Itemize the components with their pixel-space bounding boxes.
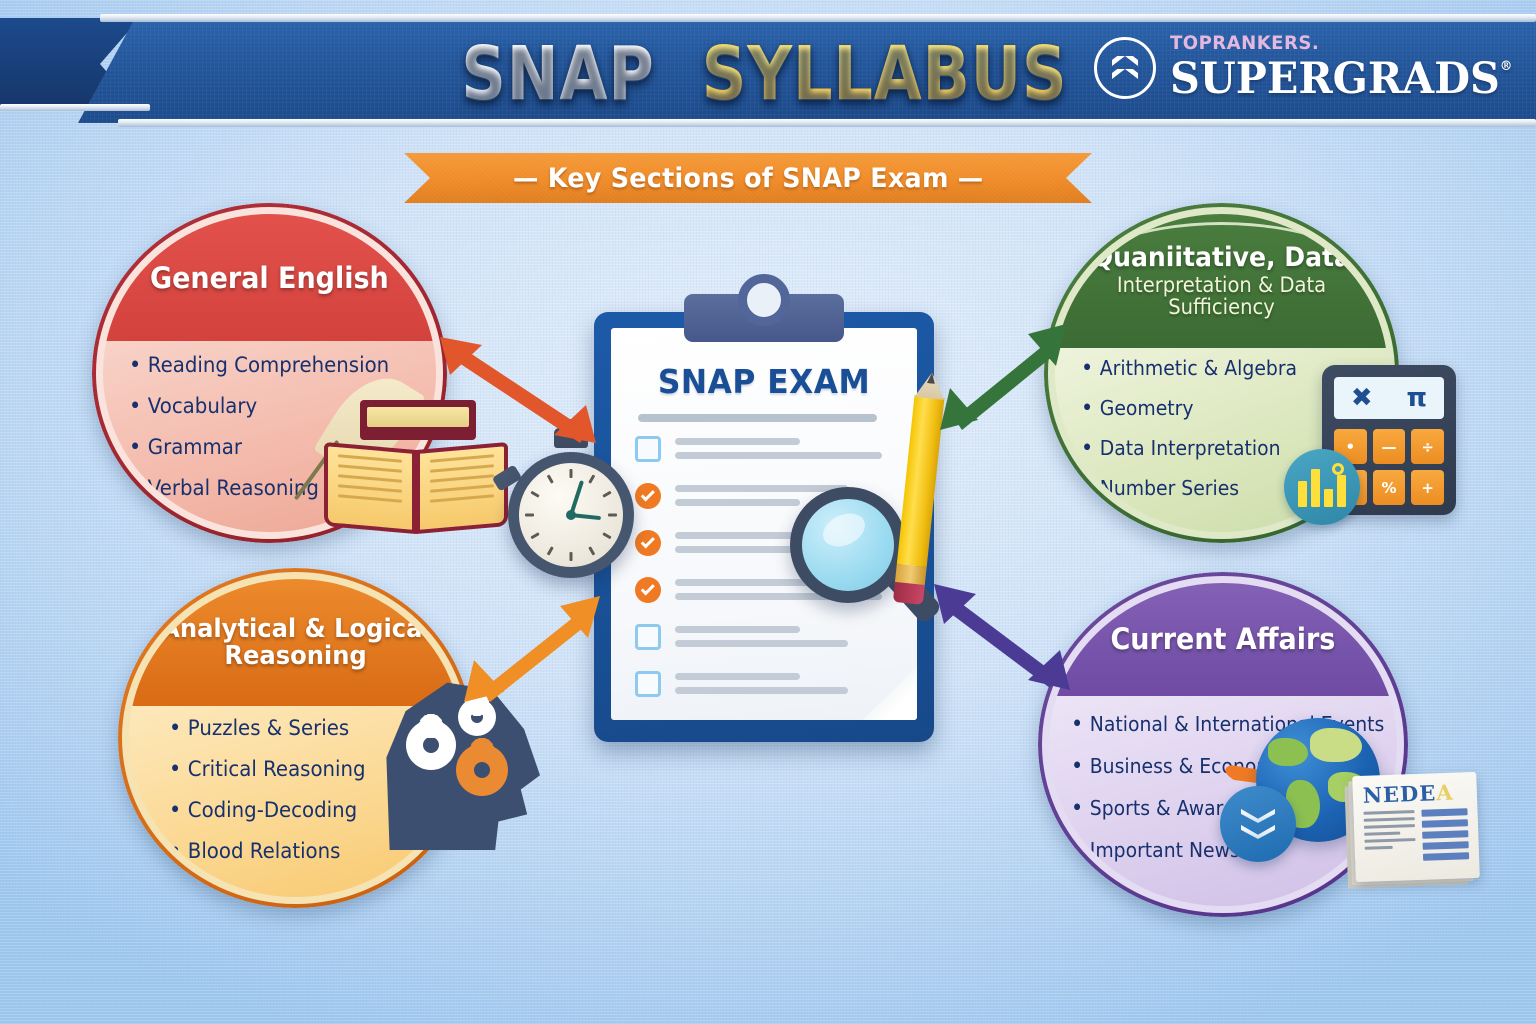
bullet-icon: •: [169, 839, 181, 864]
calculator-key: —: [1373, 429, 1406, 464]
checkbox-unchecked-icon[interactable]: [635, 671, 661, 697]
brand-logo: TOPRANKERS. SUPERGRADS®: [1094, 34, 1514, 101]
gear-icon: [456, 744, 508, 796]
book-page-left: [324, 442, 416, 534]
list-item-label: Arithmetic & Algebra: [1100, 356, 1297, 380]
subtitle-text: — Key Sections of SNAP Exam —: [513, 163, 983, 194]
bullet-icon: •: [169, 757, 181, 782]
brand-text: TOPRANKERS. SUPERGRADS®: [1170, 34, 1514, 101]
bullet-icon: •: [1071, 712, 1083, 737]
newspaper-title: NEDEA: [1362, 781, 1467, 806]
bullet-icon: •: [1071, 796, 1083, 821]
section-header-general-english: General English: [103, 214, 436, 341]
bullet-icon: •: [129, 353, 141, 378]
bullet-icon: •: [129, 476, 141, 501]
open-book-icon: [324, 438, 512, 534]
bullet-icon: •: [1081, 436, 1093, 461]
calculator-and-chart-icon: ✖ π • — ÷ % +: [1300, 365, 1460, 525]
clipboard-headline-rule: [638, 414, 877, 422]
list-item-label: Grammar: [148, 435, 242, 459]
magnifier-lens: [790, 487, 906, 603]
checkbox-checked-icon[interactable]: [635, 530, 661, 556]
ribbon-edge-bottom: [118, 119, 1536, 127]
clipboard-clamp: [684, 294, 844, 342]
bar-chart-icon: [1284, 449, 1360, 525]
book-page-right: [416, 442, 508, 534]
calculator-key: %: [1373, 470, 1406, 505]
newspaper-columns: [1363, 808, 1469, 867]
chart-dot: [1332, 463, 1344, 475]
bullet-icon: •: [1081, 476, 1093, 501]
title-syllabus: SYLLABUS: [702, 31, 1068, 117]
arrow-english-icon: [438, 335, 598, 445]
section-title-line2: Reasoning: [224, 643, 366, 670]
bullet-icon: •: [129, 394, 141, 419]
list-item-label: Data Interpretation: [1100, 436, 1281, 460]
download-chevron-icon: [1220, 786, 1296, 862]
bullet-icon: •: [1071, 838, 1083, 863]
brand-toprankers: TOPRANKERS.: [1170, 34, 1496, 53]
double-chevron-icon: [1094, 37, 1156, 99]
arrow-analytical-icon: [462, 592, 602, 704]
newspaper-icon: NEDEA: [1352, 772, 1480, 882]
bullet-icon: •: [169, 716, 181, 741]
list-item-label: Puzzles & Series: [188, 716, 349, 740]
stopwatch-icon: [508, 452, 634, 578]
registered-mark-icon: ®: [1500, 60, 1512, 73]
calculator-key: ÷: [1411, 429, 1444, 464]
section-header-quantitative: Quaniitative, Data Interpretation & Data…: [1055, 214, 1388, 348]
list-item-label: Number Series: [1100, 476, 1239, 500]
title-snap: SNAP: [462, 31, 655, 117]
lens-glare: [818, 507, 871, 553]
header-ribbon: SNAP SYLLABUS TOPRANKERS. SUPERGRADS®: [0, 0, 1536, 150]
arrow-affairs-icon: [932, 582, 1072, 694]
checklist-row[interactable]: [635, 671, 891, 701]
brand-supergrads: SUPERGRADS®: [1170, 58, 1500, 101]
bullet-icon: •: [1081, 396, 1093, 421]
list-item-label: Critical Reasoning: [188, 757, 366, 781]
section-subtitle: Interpretation & Data Sufficiency: [1083, 274, 1359, 318]
checkbox-unchecked-icon[interactable]: [635, 436, 661, 462]
newspaper-title-accent: A: [1436, 780, 1454, 806]
clipboard-title: SNAP EXAM: [619, 362, 910, 401]
arrow-quant-icon: [938, 322, 1068, 432]
ribbon-edge-top: [100, 14, 1536, 22]
gear-icon: [406, 720, 456, 770]
stopwatch-pin: [566, 510, 576, 520]
calculator-screen: ✖ π: [1334, 377, 1444, 419]
list-item-label: Blood Relations: [188, 839, 341, 863]
section-header-current-affairs: Current Affairs: [1049, 583, 1397, 696]
section-title: General English: [150, 263, 389, 293]
section-title: Quaniitative, Data: [1092, 244, 1351, 272]
bullet-icon: •: [129, 435, 141, 460]
pencil-eraser: [893, 582, 925, 605]
newspaper-title-text: NEDE: [1362, 780, 1436, 808]
calc-symbol-multiply: ✖: [1351, 383, 1373, 413]
checkbox-unchecked-icon[interactable]: [635, 624, 661, 650]
bullet-icon: •: [1081, 356, 1093, 381]
list-item-label: Important News: [1090, 838, 1240, 862]
magnifying-glass-icon: [790, 487, 906, 603]
section-title: Current Affairs: [1111, 624, 1336, 654]
calculator-key: +: [1411, 470, 1444, 505]
checkbox-checked-icon[interactable]: [635, 483, 661, 509]
stopwatch-face: [508, 452, 634, 578]
calc-symbol-pi: π: [1407, 383, 1428, 413]
globe-news-icons: NEDEA: [1248, 718, 1474, 898]
brand-supergrads-text: SUPERGRADS: [1170, 54, 1500, 104]
list-item-label: Vocabulary: [148, 394, 257, 418]
list-item-label: Coding-Decoding: [188, 798, 357, 822]
checkbox-checked-icon[interactable]: [635, 577, 661, 603]
checklist-row[interactable]: [635, 436, 891, 466]
checklist-row[interactable]: [635, 624, 891, 654]
section-title-line1: Analytical & Logical: [161, 616, 431, 643]
list-item-label: Geometry: [1100, 396, 1194, 420]
subtitle-banner: — Key Sections of SNAP Exam —: [404, 153, 1092, 203]
bullet-icon: •: [169, 798, 181, 823]
bullet-icon: •: [1071, 754, 1083, 779]
